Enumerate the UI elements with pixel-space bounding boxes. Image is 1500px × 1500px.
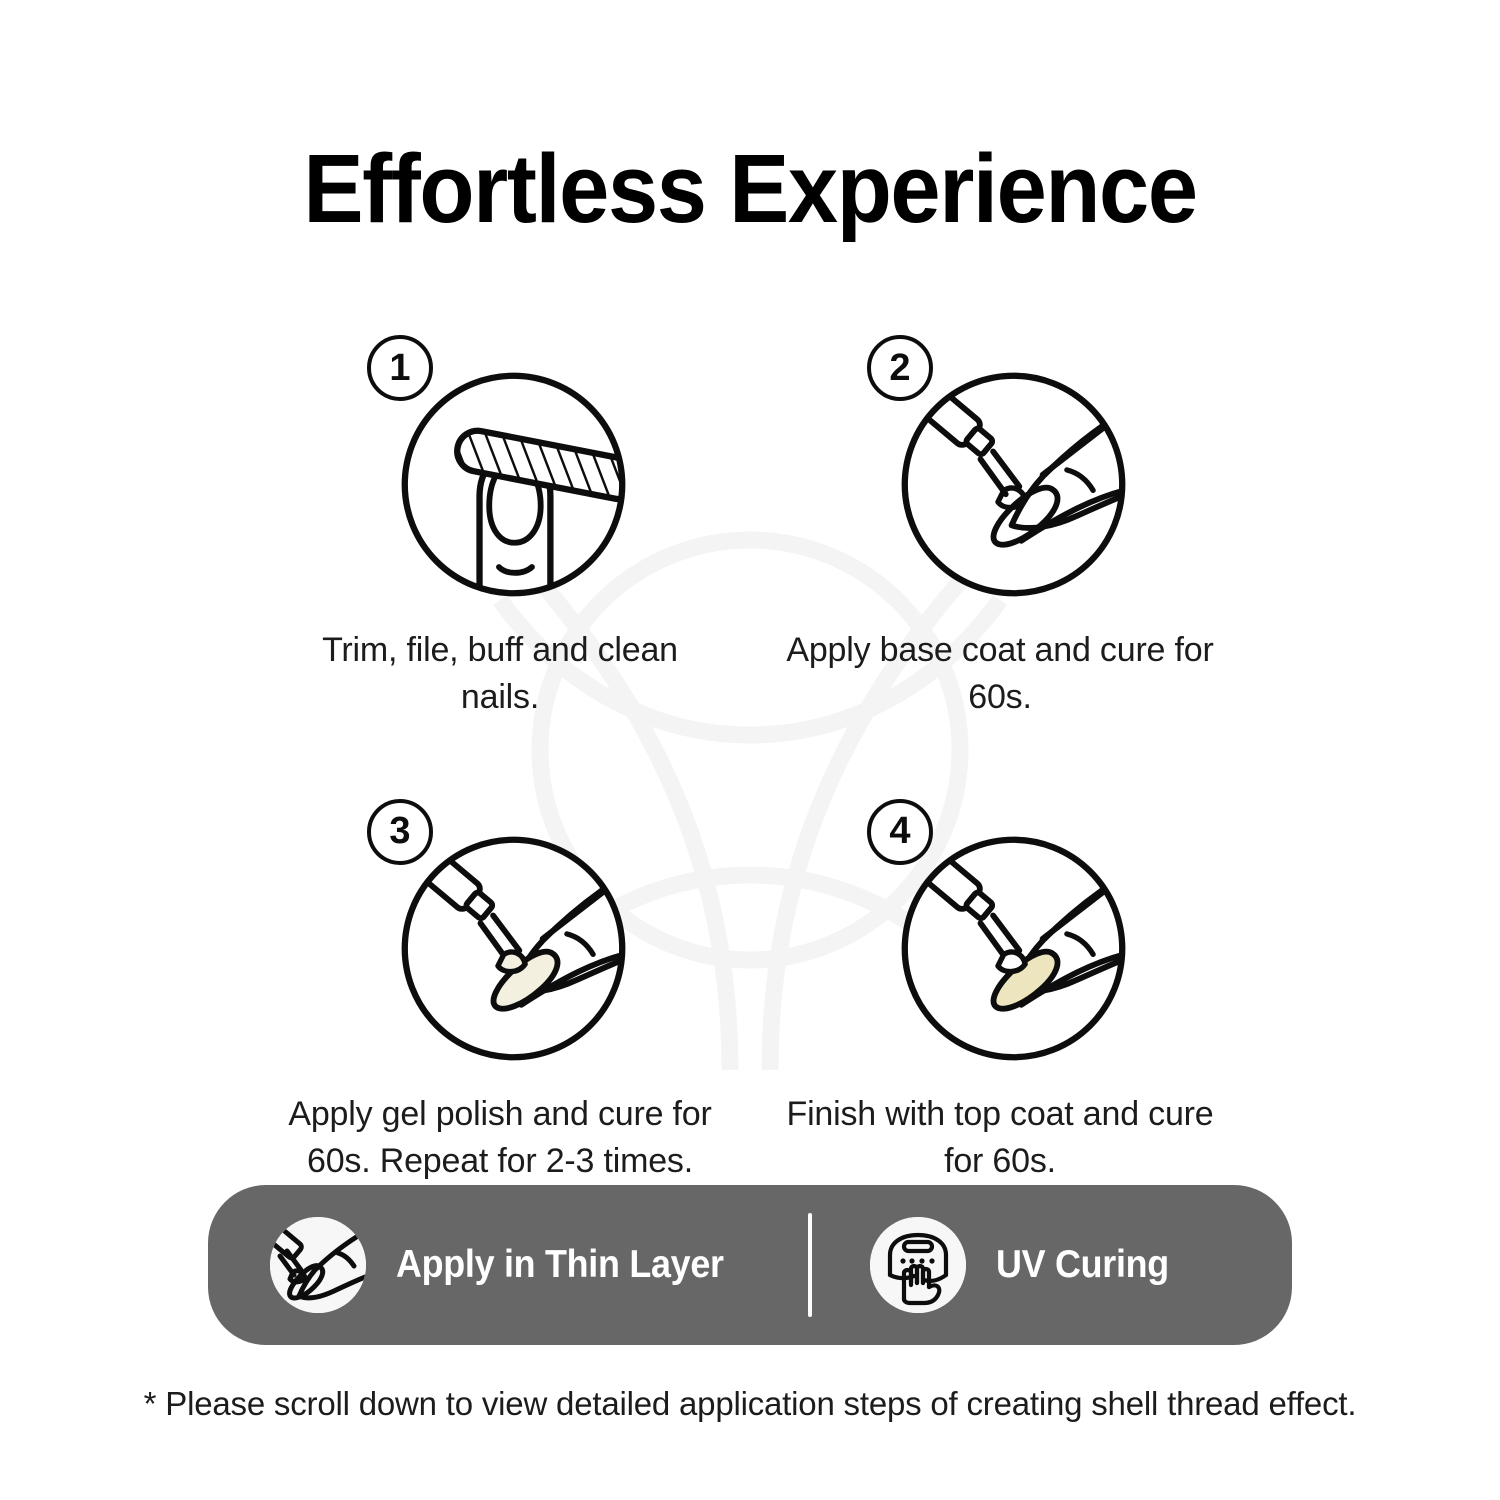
- step-number-badge-1: 1: [367, 335, 433, 401]
- nail-file-icon: [397, 368, 630, 601]
- step-card-4: 4: [750, 799, 1250, 1185]
- page-title: Effortless Experience: [53, 140, 1448, 237]
- step-caption-4: Finish with top coat and cure for 60s.: [780, 1091, 1220, 1185]
- brush-gel-polish-icon: [397, 832, 630, 1065]
- feature-label-uv-curing: UV Curing: [996, 1243, 1169, 1287]
- step-card-3: 3: [250, 799, 750, 1185]
- brush-thin-layer-icon: [270, 1217, 366, 1313]
- infographic-page: Effortless Experience 1: [0, 0, 1500, 1500]
- step-art-3: 3: [355, 799, 645, 1069]
- steps-row-top: 1: [0, 335, 1500, 721]
- step-art-4: 4: [855, 799, 1145, 1069]
- step-art-2: 2: [855, 335, 1145, 605]
- step-caption-2: Apply base coat and cure for 60s.: [780, 627, 1220, 721]
- step-caption-3: Apply gel polish and cure for 60s. Repea…: [280, 1091, 720, 1185]
- row-spacer: [0, 721, 1500, 799]
- brush-base-coat-icon: [897, 368, 1130, 601]
- feature-bar: Apply in Thin Layer: [208, 1185, 1292, 1345]
- feature-apply-thin-layer: Apply in Thin Layer: [208, 1185, 808, 1345]
- step-caption-1: Trim, file, buff and clean nails.: [280, 627, 720, 721]
- feature-uv-curing: UV Curing: [808, 1185, 1292, 1345]
- feature-label-thin-layer: Apply in Thin Layer: [396, 1243, 724, 1287]
- brush-top-coat-icon: [897, 832, 1130, 1065]
- step-number-badge-4: 4: [867, 799, 933, 865]
- step-card-1: 1: [250, 335, 750, 721]
- step-art-1: 1: [355, 335, 645, 605]
- feature-bar-divider: [808, 1213, 812, 1317]
- steps-grid: 1: [0, 335, 1500, 1185]
- steps-row-bottom: 3: [0, 799, 1500, 1185]
- step-number-badge-2: 2: [867, 335, 933, 401]
- step-number-badge-3: 3: [367, 799, 433, 865]
- step-card-2: 2: [750, 335, 1250, 721]
- footnote-text: * Please scroll down to view detailed ap…: [0, 1385, 1500, 1423]
- uv-lamp-hand-icon: [870, 1217, 966, 1313]
